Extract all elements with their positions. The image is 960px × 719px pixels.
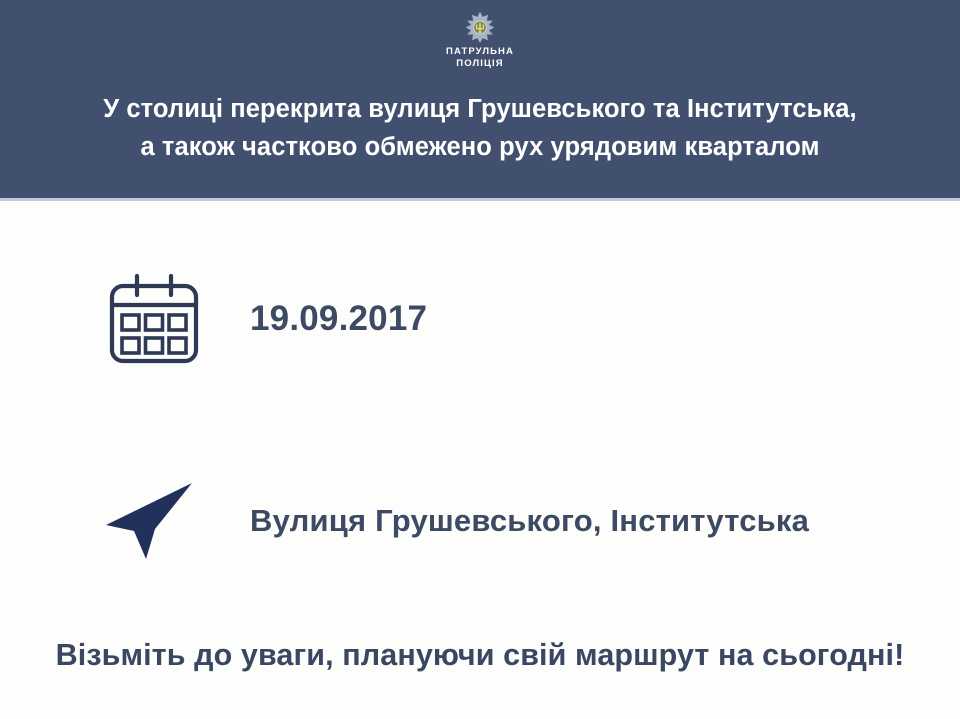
announcement-poster: ПАТРУЛЬНА ПОЛІЦІЯ У столиці перекрита ву…: [0, 0, 960, 719]
location-row-icon-wrap: [104, 479, 220, 563]
location-value: Вулиця Грушевського, Інститутська: [250, 503, 809, 539]
date-value: 19.09.2017: [250, 299, 427, 339]
navigation-arrow-icon: [104, 479, 196, 563]
police-badge-star-trident-icon: [463, 11, 497, 43]
footer-note: Візьміть до уваги, плануючи свій маршрут…: [0, 638, 960, 719]
brand-lockup: ПАТРУЛЬНА ПОЛІЦІЯ: [420, 11, 540, 70]
info-rows: 19.09.2017 Вулиця Грушевського, Інститут…: [0, 201, 960, 638]
date-row: 19.09.2017: [0, 259, 960, 379]
headline-line-1: У столиці перекрита вулиця Грушевського …: [30, 90, 930, 128]
headline-line-2: а також частково обмежено рух урядовим к…: [30, 128, 930, 166]
brand-name-line1: ПАТРУЛЬНА: [446, 46, 514, 58]
calendar-icon: [104, 269, 204, 369]
header-band: ПАТРУЛЬНА ПОЛІЦІЯ У столиці перекрита ву…: [0, 0, 960, 201]
date-row-icon-wrap: [104, 269, 220, 369]
headline: У столиці перекрита вулиця Грушевського …: [30, 90, 930, 166]
brand-name: ПАТРУЛЬНА ПОЛІЦІЯ: [446, 46, 514, 70]
brand-name-line2: ПОЛІЦІЯ: [446, 58, 514, 70]
location-row: Вулиця Грушевського, Інститутська: [0, 475, 960, 567]
